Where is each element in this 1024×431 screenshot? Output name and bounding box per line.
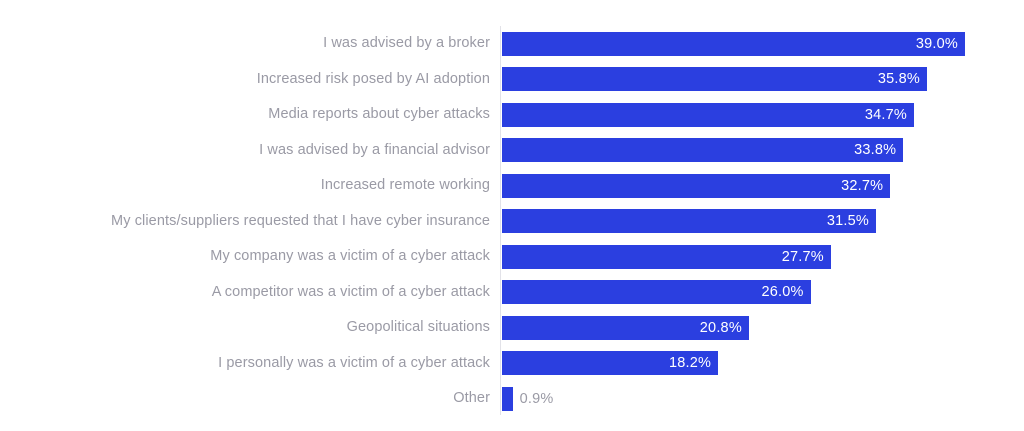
bar-value-label: 0.9% xyxy=(520,387,554,411)
bar-track: 39.0% xyxy=(502,32,965,56)
bar[interactable]: 27.7% xyxy=(502,245,831,269)
bar-track: 35.8% xyxy=(502,67,927,91)
bar-row: Media reports about cyber attacks34.7% xyxy=(0,97,1024,133)
category-label: Media reports about cyber attacks xyxy=(268,97,490,133)
bar-rows: I was advised by a broker39.0%Increased … xyxy=(0,26,1024,417)
category-label: My clients/suppliers requested that I ha… xyxy=(111,204,490,240)
bar[interactable]: 39.0% xyxy=(502,32,965,56)
category-label: Other xyxy=(453,381,490,417)
bar-track: 33.8% xyxy=(502,138,903,162)
bar-track: 31.5% xyxy=(502,209,876,233)
bar[interactable]: 26.0% xyxy=(502,280,811,304)
category-label: A competitor was a victim of a cyber att… xyxy=(212,275,490,311)
category-label: I was advised by a broker xyxy=(323,26,490,62)
bar-track: 26.0% xyxy=(502,280,811,304)
bar-chart: I was advised by a broker39.0%Increased … xyxy=(0,0,1024,431)
bar-row: I was advised by a financial advisor33.8… xyxy=(0,133,1024,169)
bar-value-label: 35.8% xyxy=(878,71,927,87)
bar-track: 20.8% xyxy=(502,316,749,340)
bar-value-label: 26.0% xyxy=(762,284,811,300)
bar[interactable]: 20.8% xyxy=(502,316,749,340)
category-label: I personally was a victim of a cyber att… xyxy=(218,346,490,382)
bar-value-label: 39.0% xyxy=(916,36,965,52)
bar[interactable]: 18.2% xyxy=(502,351,718,375)
bar-track xyxy=(502,387,513,411)
category-label: Increased risk posed by AI adoption xyxy=(257,62,490,98)
category-label: Increased remote working xyxy=(321,168,490,204)
bar-row: Increased risk posed by AI adoption35.8% xyxy=(0,62,1024,98)
bar[interactable]: 34.7% xyxy=(502,103,914,127)
bar-value-label: 32.7% xyxy=(841,178,890,194)
bar[interactable]: 32.7% xyxy=(502,174,890,198)
bar-value-label: 33.8% xyxy=(854,142,903,158)
category-label: My company was a victim of a cyber attac… xyxy=(210,239,490,275)
bar-value-label: 18.2% xyxy=(669,355,718,371)
bar-row: Geopolitical situations20.8% xyxy=(0,310,1024,346)
category-label: Geopolitical situations xyxy=(347,310,490,346)
bar-row: My company was a victim of a cyber attac… xyxy=(0,239,1024,275)
bar[interactable]: 35.8% xyxy=(502,67,927,91)
bar-row: Other0.9% xyxy=(0,381,1024,417)
bar[interactable]: 33.8% xyxy=(502,138,903,162)
bar-value-label: 31.5% xyxy=(827,213,876,229)
bar-row: My clients/suppliers requested that I ha… xyxy=(0,204,1024,240)
bar[interactable] xyxy=(502,387,513,411)
bar-value-label: 27.7% xyxy=(782,249,831,265)
bar-track: 18.2% xyxy=(502,351,718,375)
bar-value-label: 34.7% xyxy=(865,107,914,123)
bar-track: 27.7% xyxy=(502,245,831,269)
bar-row: A competitor was a victim of a cyber att… xyxy=(0,275,1024,311)
bar-track: 34.7% xyxy=(502,103,914,127)
bar-row: I was advised by a broker39.0% xyxy=(0,26,1024,62)
bar-row: I personally was a victim of a cyber att… xyxy=(0,346,1024,382)
bar-track: 32.7% xyxy=(502,174,890,198)
category-label: I was advised by a financial advisor xyxy=(259,133,490,169)
bar-value-label: 20.8% xyxy=(700,320,749,336)
bar-row: Increased remote working32.7% xyxy=(0,168,1024,204)
plot-area: I was advised by a broker39.0%Increased … xyxy=(0,0,1024,431)
bar[interactable]: 31.5% xyxy=(502,209,876,233)
